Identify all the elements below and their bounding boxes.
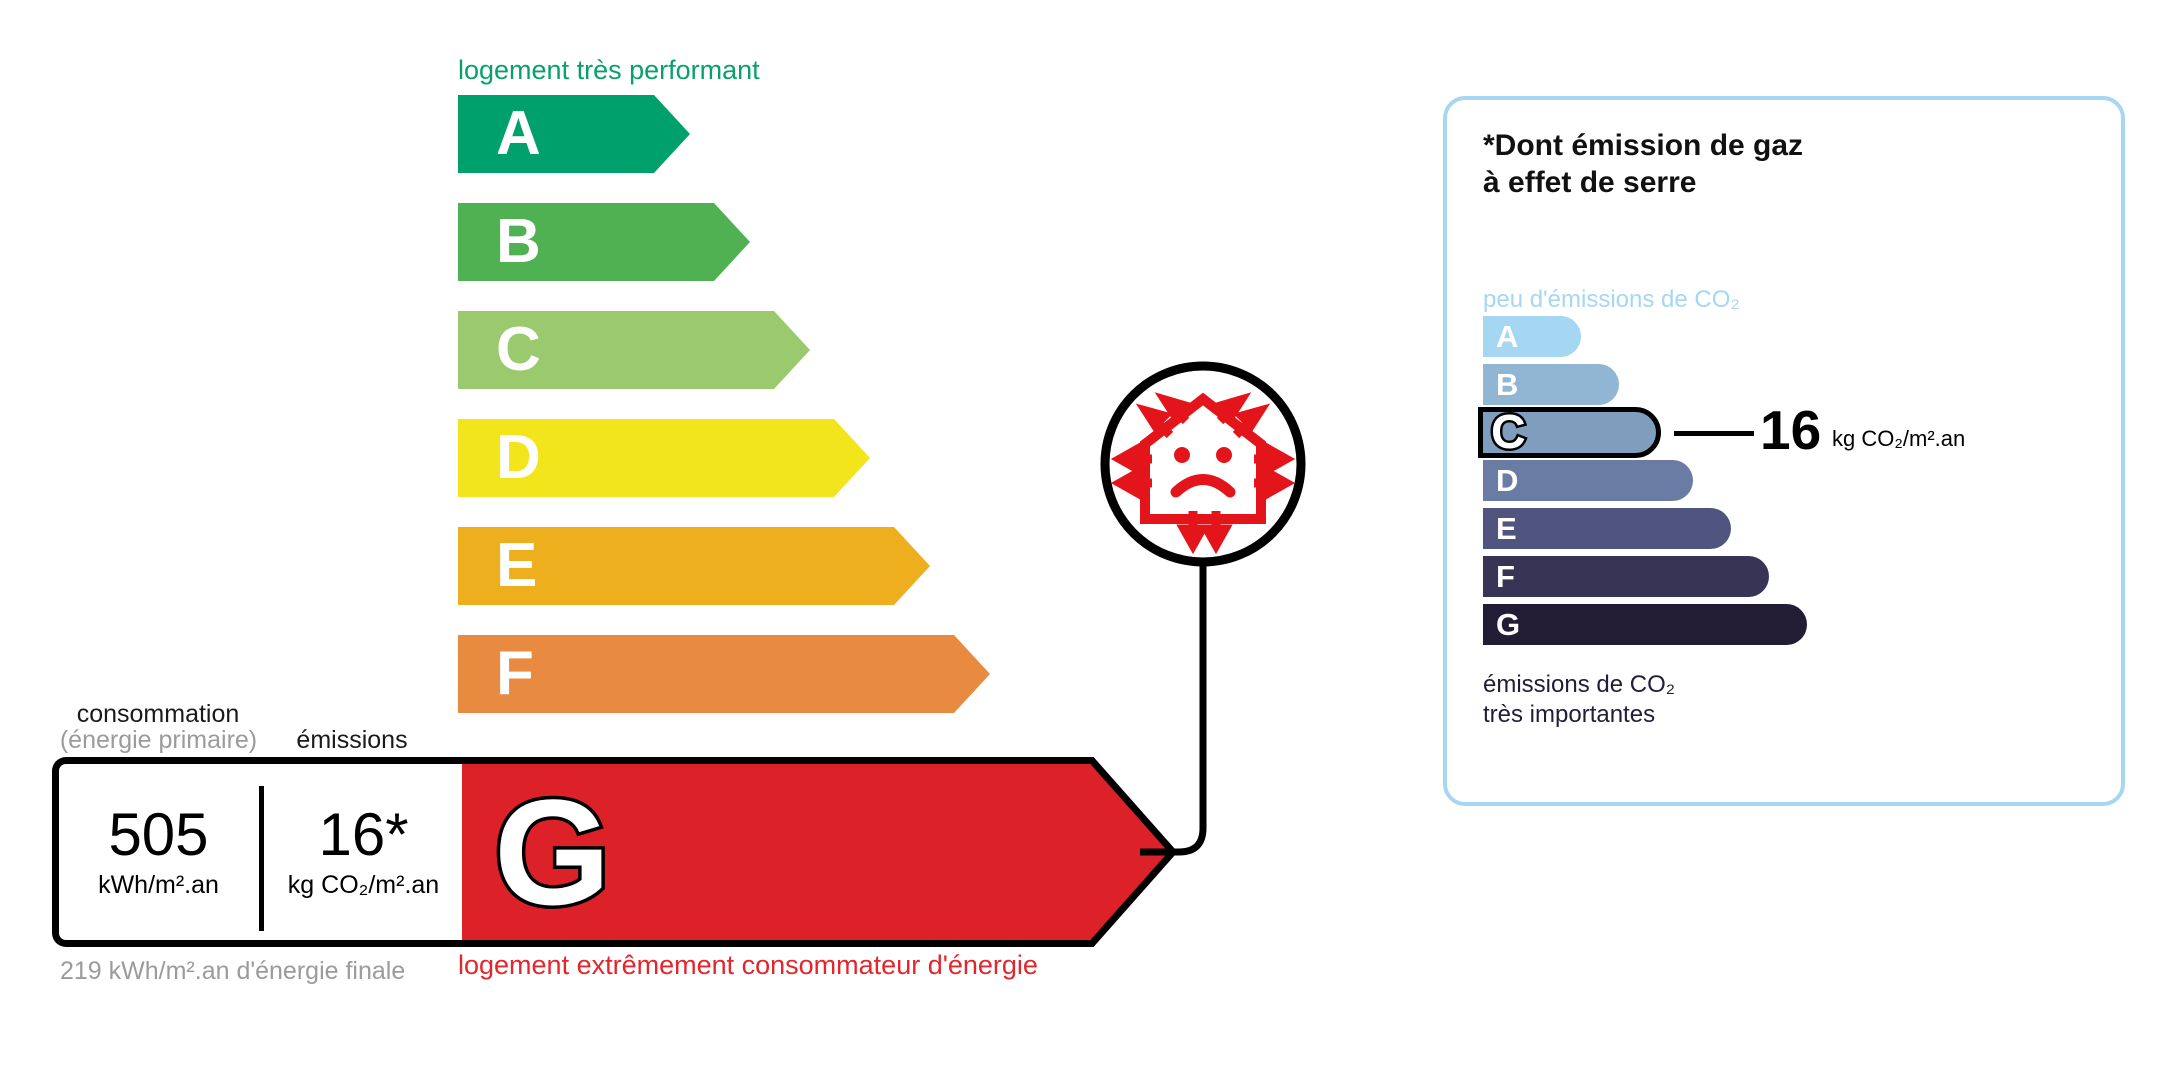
energy-band-letter-b: B: [496, 211, 541, 273]
ges-panel: *Dont émission de gaz à effet de serre p…: [1443, 96, 2125, 806]
value-box-divider: [259, 786, 264, 931]
label-consommation: consommation: [58, 700, 258, 729]
ges-callout-unit: kg CO₂/m².an: [1832, 426, 1965, 452]
energy-band-g-selected: G: [452, 757, 1177, 947]
ges-bar-b: B: [1483, 364, 1619, 405]
ges-bar-f: F: [1483, 556, 1769, 597]
energy-band-letter-c: C: [496, 319, 541, 381]
energy-band-d: D: [458, 419, 870, 497]
ges-bar-letter-g: G: [1496, 609, 1520, 640]
consumption-value-box: 505 kWh/m².an 16* kg CO₂/m².an: [52, 757, 462, 947]
energy-performance-scale: logement très performant ABCDEF G logeme…: [0, 0, 1240, 1000]
ges-bar-g: G: [1483, 604, 1807, 645]
ges-bar-a: A: [1483, 316, 1581, 357]
energy-scale-top-caption: logement très performant: [458, 55, 760, 86]
energy-band-g-letter: G: [494, 777, 611, 927]
badge-connector-line: [1100, 560, 1310, 860]
energy-band-b: B: [458, 203, 750, 281]
ges-bar-e: E: [1483, 508, 1731, 549]
energy-band-c: C: [458, 311, 810, 389]
ges-callout-value: 16: [1760, 403, 1821, 458]
ges-callout-line: [1674, 431, 1754, 436]
ges-bar-letter-c: C: [1491, 409, 1526, 457]
emission-unit: kg CO₂/m².an: [288, 871, 439, 900]
ges-bar-letter-e: E: [1496, 513, 1517, 544]
ges-top-caption: peu d'émissions de CO₂: [1483, 286, 1740, 314]
energy-unit: kWh/m².an: [98, 871, 219, 900]
energy-band-e: E: [458, 527, 930, 605]
energy-scale-bottom-caption: logement extrêmement consommateur d'éner…: [458, 950, 1038, 981]
ges-panel-title: *Dont émission de gaz à effet de serre: [1483, 128, 1803, 201]
label-emissions: émissions: [262, 726, 442, 755]
energy-band-letter-a: A: [496, 103, 541, 165]
emission-value: 16*: [318, 805, 408, 865]
ges-bar-d: D: [1483, 460, 1693, 501]
energy-value-cell: 505 kWh/m².an: [59, 764, 258, 940]
ges-bar-letter-b: B: [1496, 369, 1518, 400]
ges-bottom-caption: émissions de CO₂ très importantes: [1483, 670, 1675, 730]
energy-band-letter-e: E: [496, 535, 537, 597]
energy-band-f: F: [458, 635, 990, 713]
ges-bar-letter-d: D: [1496, 465, 1518, 496]
energy-value: 505: [108, 805, 208, 865]
label-energie-primaire: (énergie primaire): [46, 726, 271, 755]
sad-house-heat-loss-icon: [1098, 359, 1308, 569]
emission-value-cell: 16* kg CO₂/m².an: [265, 764, 462, 940]
ges-bar-letter-f: F: [1496, 561, 1515, 592]
energy-band-letter-f: F: [496, 643, 534, 705]
energy-band-a: A: [458, 95, 690, 173]
energy-band-letter-d: D: [496, 427, 541, 489]
energy-band-shape-a: [458, 95, 690, 173]
energy-band-shape-f: [458, 635, 990, 713]
ges-bar-letter-a: A: [1496, 321, 1518, 352]
ges-bar-c-selected: C: [1478, 407, 1661, 458]
final-energy-note: 219 kWh/m².an d'énergie finale: [60, 955, 405, 987]
